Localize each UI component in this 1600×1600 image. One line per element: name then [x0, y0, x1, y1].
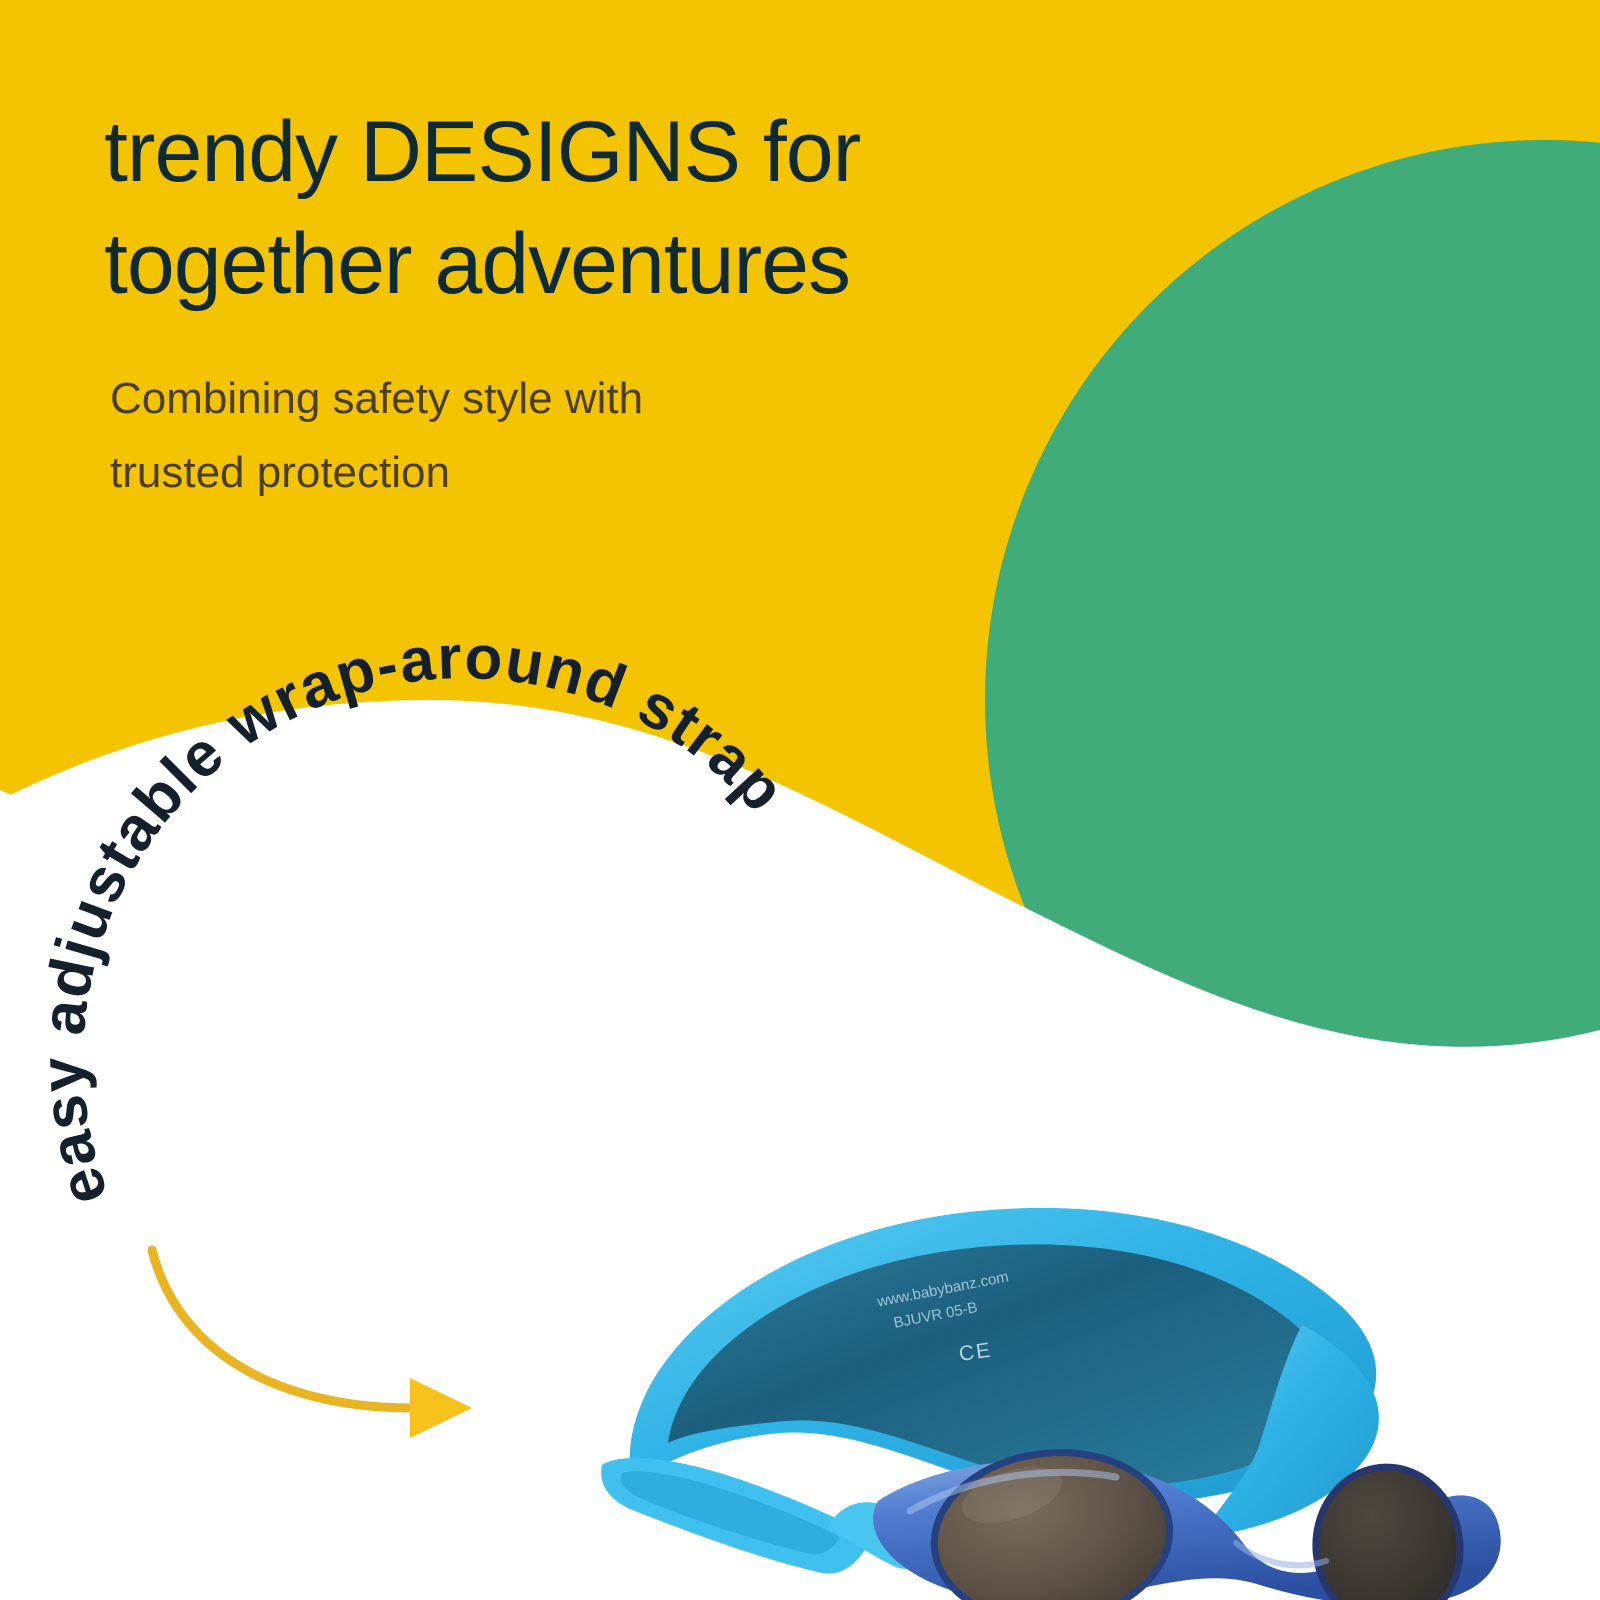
- promo-graphic-canvas: trendy DESIGNS for together adventures C…: [0, 0, 1600, 1600]
- headline-line-1: trendy DESIGNS for: [104, 96, 1104, 208]
- subtitle-line-1: Combining safety style with: [110, 362, 970, 436]
- ce-mark-icon: CE: [957, 1339, 993, 1366]
- sunglasses-illustration: www.babybanz.com BJUVR 05-B CE: [560, 1165, 1600, 1600]
- curved-arrow-icon: [120, 1210, 500, 1440]
- subtitle-line-2: trusted protection: [110, 436, 970, 510]
- headline-line-2: together adventures: [104, 208, 1104, 320]
- product-image-sunglasses: www.babybanz.com BJUVR 05-B CE: [560, 1165, 1600, 1600]
- headline: trendy DESIGNS for together adventures: [104, 96, 1104, 320]
- subtitle: Combining safety style with trusted prot…: [110, 362, 970, 510]
